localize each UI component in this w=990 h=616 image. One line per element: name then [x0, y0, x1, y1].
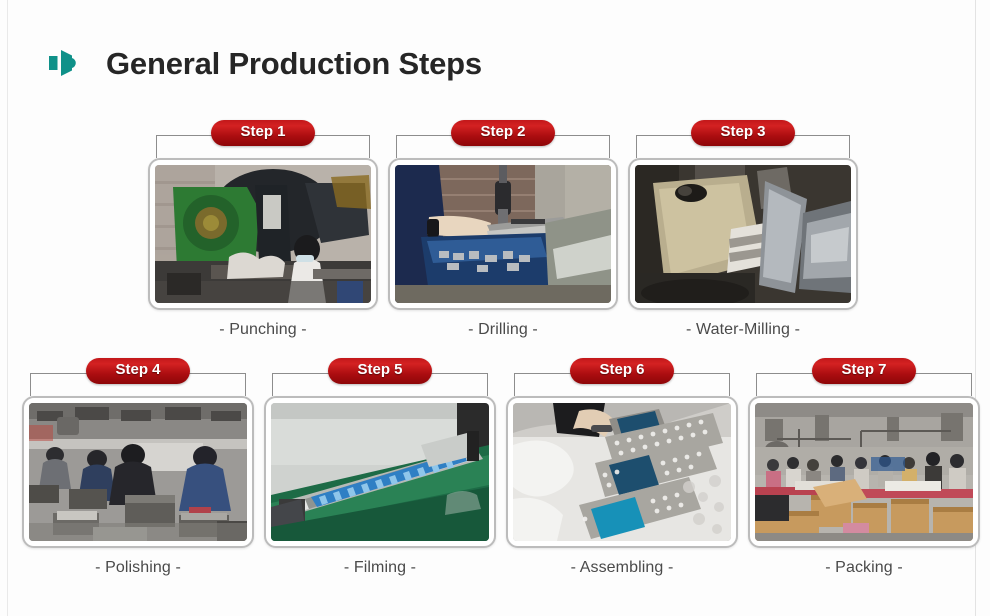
- step-7-photo-frame[interactable]: [748, 396, 980, 548]
- steps-row-bottom: Step 4: [22, 358, 980, 577]
- step-card-4[interactable]: Step 4: [22, 358, 254, 577]
- step-6-caption: - Assembling -: [571, 559, 674, 577]
- step-4-caption: - Polishing -: [95, 559, 181, 577]
- page-left-rule: [7, 0, 8, 616]
- step-5-badge-zone: Step 5: [264, 358, 496, 396]
- step-2-photo-frame[interactable]: [388, 158, 618, 310]
- step-card-7[interactable]: Step 7: [748, 358, 980, 577]
- step-card-3[interactable]: Step 3: [628, 120, 858, 339]
- step-1-caption: - Punching -: [219, 321, 306, 339]
- slide-canvas: General Production Steps Step 1: [0, 0, 990, 616]
- step-1-photo: [155, 165, 371, 303]
- step-1-badge: Step 1: [211, 120, 315, 146]
- step-1-photo-frame[interactable]: [148, 158, 378, 310]
- step-6-badge: Step 6: [570, 358, 674, 384]
- step-2-caption: - Drilling -: [468, 321, 538, 339]
- page-title: General Production Steps: [106, 48, 482, 79]
- step-6-photo: [513, 403, 731, 541]
- step-1-badge-zone: Step 1: [148, 120, 378, 158]
- step-4-badge-zone: Step 4: [22, 358, 254, 396]
- step-4-photo: [29, 403, 247, 541]
- step-6-badge-zone: Step 6: [506, 358, 738, 396]
- step-5-badge: Step 5: [328, 358, 432, 384]
- step-3-badge: Step 3: [691, 120, 795, 146]
- step-card-2[interactable]: Step 2: [388, 120, 618, 339]
- step-card-6[interactable]: Step 6: [506, 358, 738, 577]
- step-card-1[interactable]: Step 1: [148, 120, 378, 339]
- steps-row-top: Step 1: [148, 120, 858, 339]
- step-7-badge-zone: Step 7: [748, 358, 980, 396]
- step-5-photo-frame[interactable]: [264, 396, 496, 548]
- step-3-caption: - Water-Milling -: [686, 321, 800, 339]
- step-2-photo: [395, 165, 611, 303]
- step-card-5[interactable]: Step 5: [264, 358, 496, 577]
- step-5-caption: - Filming -: [344, 559, 416, 577]
- step-3-badge-zone: Step 3: [628, 120, 858, 158]
- step-2-badge: Step 2: [451, 120, 555, 146]
- step-7-badge: Step 7: [812, 358, 916, 384]
- step-3-photo-frame[interactable]: [628, 158, 858, 310]
- step-7-caption: - Packing -: [825, 559, 903, 577]
- step-7-photo: [755, 403, 973, 541]
- step-6-photo-frame[interactable]: [506, 396, 738, 548]
- step-4-photo-frame[interactable]: [22, 396, 254, 548]
- speaker-icon: [42, 42, 84, 84]
- step-4-badge: Step 4: [86, 358, 190, 384]
- step-2-badge-zone: Step 2: [388, 120, 618, 158]
- page-header: General Production Steps: [42, 42, 482, 84]
- step-3-photo: [635, 165, 851, 303]
- step-5-photo: [271, 403, 489, 541]
